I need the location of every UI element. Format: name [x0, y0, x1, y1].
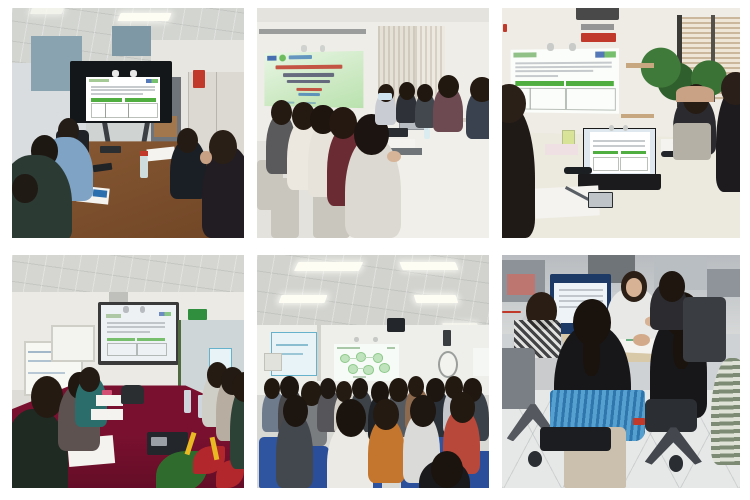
- slide-document: [511, 49, 620, 115]
- wall-clock: [438, 351, 458, 378]
- wall-marker-red: [503, 24, 507, 32]
- eyeglasses: [564, 167, 593, 174]
- photo-6: [502, 255, 740, 488]
- photo-3-scene: [502, 8, 740, 238]
- person-head: [209, 130, 237, 165]
- person-head: [271, 100, 292, 125]
- slide-logo: [159, 312, 171, 316]
- smartphone: [588, 192, 614, 208]
- slide-node-diagram: [334, 344, 399, 381]
- monitor-text-line: [559, 295, 603, 297]
- person-head: [408, 376, 424, 397]
- display-camera: [130, 70, 137, 77]
- diagram-connector: [363, 357, 373, 358]
- ceiling-light: [30, 8, 65, 14]
- notebook: [91, 409, 123, 421]
- slide-logo: [596, 51, 616, 58]
- chair: [673, 123, 711, 160]
- person-head: [438, 75, 459, 98]
- document-paper: [545, 144, 578, 156]
- person-head: [329, 107, 357, 139]
- water-bottle: [184, 390, 191, 413]
- slide-table-cell: [107, 343, 137, 356]
- photo-collage: [0, 0, 750, 500]
- projection-screen: [101, 305, 175, 361]
- monitor-text-line: [559, 289, 603, 291]
- wall-banner-red-text: [581, 33, 617, 42]
- person-head: [336, 399, 366, 436]
- person-hand: [387, 151, 401, 163]
- ceiling-light: [399, 262, 458, 270]
- slide-green-bar: [107, 338, 135, 341]
- slide-document: [86, 77, 160, 121]
- shelving-items: [707, 269, 740, 297]
- laptop-camera: [609, 125, 614, 131]
- ceiling-light: [413, 295, 457, 303]
- fire-safety-sign: [193, 70, 205, 88]
- display-camera: [112, 70, 119, 77]
- slide-green-bar: [125, 98, 156, 102]
- slide-table-cell: [137, 343, 167, 356]
- emergency-exit-sign: [188, 309, 207, 321]
- slide-document: [101, 305, 175, 361]
- photo-6-scene: [502, 255, 740, 488]
- screen-camera: [373, 337, 378, 343]
- diagram-node: [379, 363, 390, 373]
- chair-caster: [669, 455, 683, 471]
- wall-marker-red: [502, 311, 521, 313]
- ceiling-light: [294, 262, 363, 271]
- notebook-accent: [93, 189, 108, 197]
- photo-5: [257, 255, 489, 488]
- diagram-node: [363, 365, 373, 374]
- diagram-connector: [356, 368, 365, 369]
- laptop-green-bar: [593, 151, 618, 154]
- slide-green-bar: [516, 82, 564, 87]
- slide-table-cell: [566, 88, 616, 111]
- slide-title-line: [275, 65, 342, 70]
- wall-banner-subtext: [581, 24, 614, 30]
- person-head: [450, 392, 476, 422]
- wall-accent-2: [112, 26, 151, 56]
- wall-banner-graphic: [576, 8, 619, 20]
- photo-5-scene: [257, 255, 489, 488]
- wall-shelf: [626, 63, 655, 68]
- photo-2: [257, 8, 489, 238]
- person-head: [659, 271, 685, 301]
- slide-header-bar: [106, 314, 121, 318]
- projection-screen: [511, 49, 620, 115]
- tabletop-device: [100, 146, 121, 153]
- person-head: [410, 395, 436, 428]
- laptop-table-cell: [593, 157, 619, 171]
- shelving-box: [507, 274, 536, 295]
- slide-logo-text: [288, 55, 311, 59]
- bottle-cap: [140, 151, 148, 157]
- slide-logo-badge: [279, 54, 286, 61]
- screen-rail: [259, 29, 366, 35]
- office-chair-seat: [645, 399, 697, 432]
- slide-text-line: [107, 326, 165, 328]
- slide-logo: [146, 79, 158, 83]
- person-hand: [200, 151, 212, 165]
- laptop-screen: [583, 128, 656, 178]
- whiteboard-rear: [51, 325, 94, 362]
- slide-text-line: [516, 66, 612, 69]
- doorway-frame: [178, 320, 181, 390]
- secondary-screen: [473, 348, 489, 376]
- ponytail: [583, 334, 600, 376]
- person-head: [721, 72, 740, 104]
- notebook: [96, 395, 124, 407]
- slide-corner-mark: [387, 347, 395, 349]
- office-chair-seat: [540, 427, 611, 450]
- slide-text-line: [516, 70, 594, 72]
- person-head: [389, 378, 408, 401]
- slide-table-cell: [91, 103, 106, 118]
- screen-camera: [547, 43, 554, 51]
- screen-camera: [320, 45, 326, 52]
- slide-table-cell: [530, 88, 566, 111]
- screen-camera: [569, 43, 576, 51]
- slide-table-cell: [128, 103, 158, 118]
- speaker: [443, 330, 451, 346]
- photo-3: [502, 8, 740, 238]
- slide-subtitle-line: [283, 73, 334, 77]
- highlighter: [102, 390, 111, 395]
- laptop-table-cell: [620, 157, 648, 171]
- laptop-text-line: [593, 145, 645, 147]
- slide-table-cell: [105, 103, 129, 118]
- wall-display-screen: [86, 77, 160, 121]
- slide-byline: [296, 88, 321, 91]
- slide-date-line: [298, 93, 320, 95]
- diagram-node: [373, 353, 383, 362]
- laptop-text-line: [593, 140, 645, 142]
- wall-shelf: [621, 114, 654, 119]
- photo-1-scene: [12, 8, 244, 238]
- poster-text-line: [276, 344, 308, 346]
- laptop-green-bar: [621, 151, 646, 154]
- person-head: [470, 77, 489, 102]
- slide-text-line: [91, 89, 155, 91]
- slide-subtitle-line: [286, 79, 329, 83]
- air-conditioner: [264, 353, 282, 371]
- person-head: [177, 128, 198, 153]
- whiteboard-writing: [28, 372, 65, 374]
- person-head: [399, 82, 415, 100]
- slide-text-line: [107, 322, 165, 324]
- diagram-connector: [348, 358, 357, 359]
- office-chair-back: [502, 348, 535, 409]
- photo-4-scene: [12, 255, 244, 488]
- slide-text-line: [516, 75, 559, 77]
- slide-green-bar: [137, 338, 165, 341]
- ceiling-light: [279, 295, 328, 303]
- slide-header-bar: [514, 52, 537, 57]
- photo-4: [12, 255, 244, 488]
- person-body: [711, 358, 740, 465]
- slide-text-line: [91, 86, 155, 88]
- photo-1: [12, 8, 244, 238]
- laptop-slide: [590, 132, 650, 173]
- slide-green-bar: [91, 98, 122, 102]
- slide-text-line: [107, 331, 150, 333]
- slide-title-line: [337, 347, 359, 349]
- projection-screen: [334, 344, 399, 381]
- screen-camera: [123, 306, 129, 313]
- wall-pipe: [317, 325, 321, 381]
- towel-logo: [633, 418, 645, 425]
- projector-lens: [151, 437, 167, 446]
- person-arms-raised: [676, 86, 714, 102]
- office-chair-back: [683, 297, 726, 362]
- person-head: [373, 399, 399, 429]
- screen-camera: [301, 45, 307, 52]
- slide-green-bar: [566, 82, 614, 87]
- slide-logo-left: [267, 55, 276, 60]
- face-mask: [378, 93, 392, 100]
- slide-header-bar: [89, 79, 108, 82]
- chair: [121, 385, 144, 404]
- slide-text-line: [516, 62, 612, 65]
- person-hand: [633, 334, 650, 346]
- person-head: [12, 174, 38, 204]
- ceiling-light: [117, 13, 171, 21]
- photo-2-scene: [257, 8, 489, 238]
- slide-text-line: [91, 93, 143, 95]
- ceiling-projector: [387, 318, 406, 332]
